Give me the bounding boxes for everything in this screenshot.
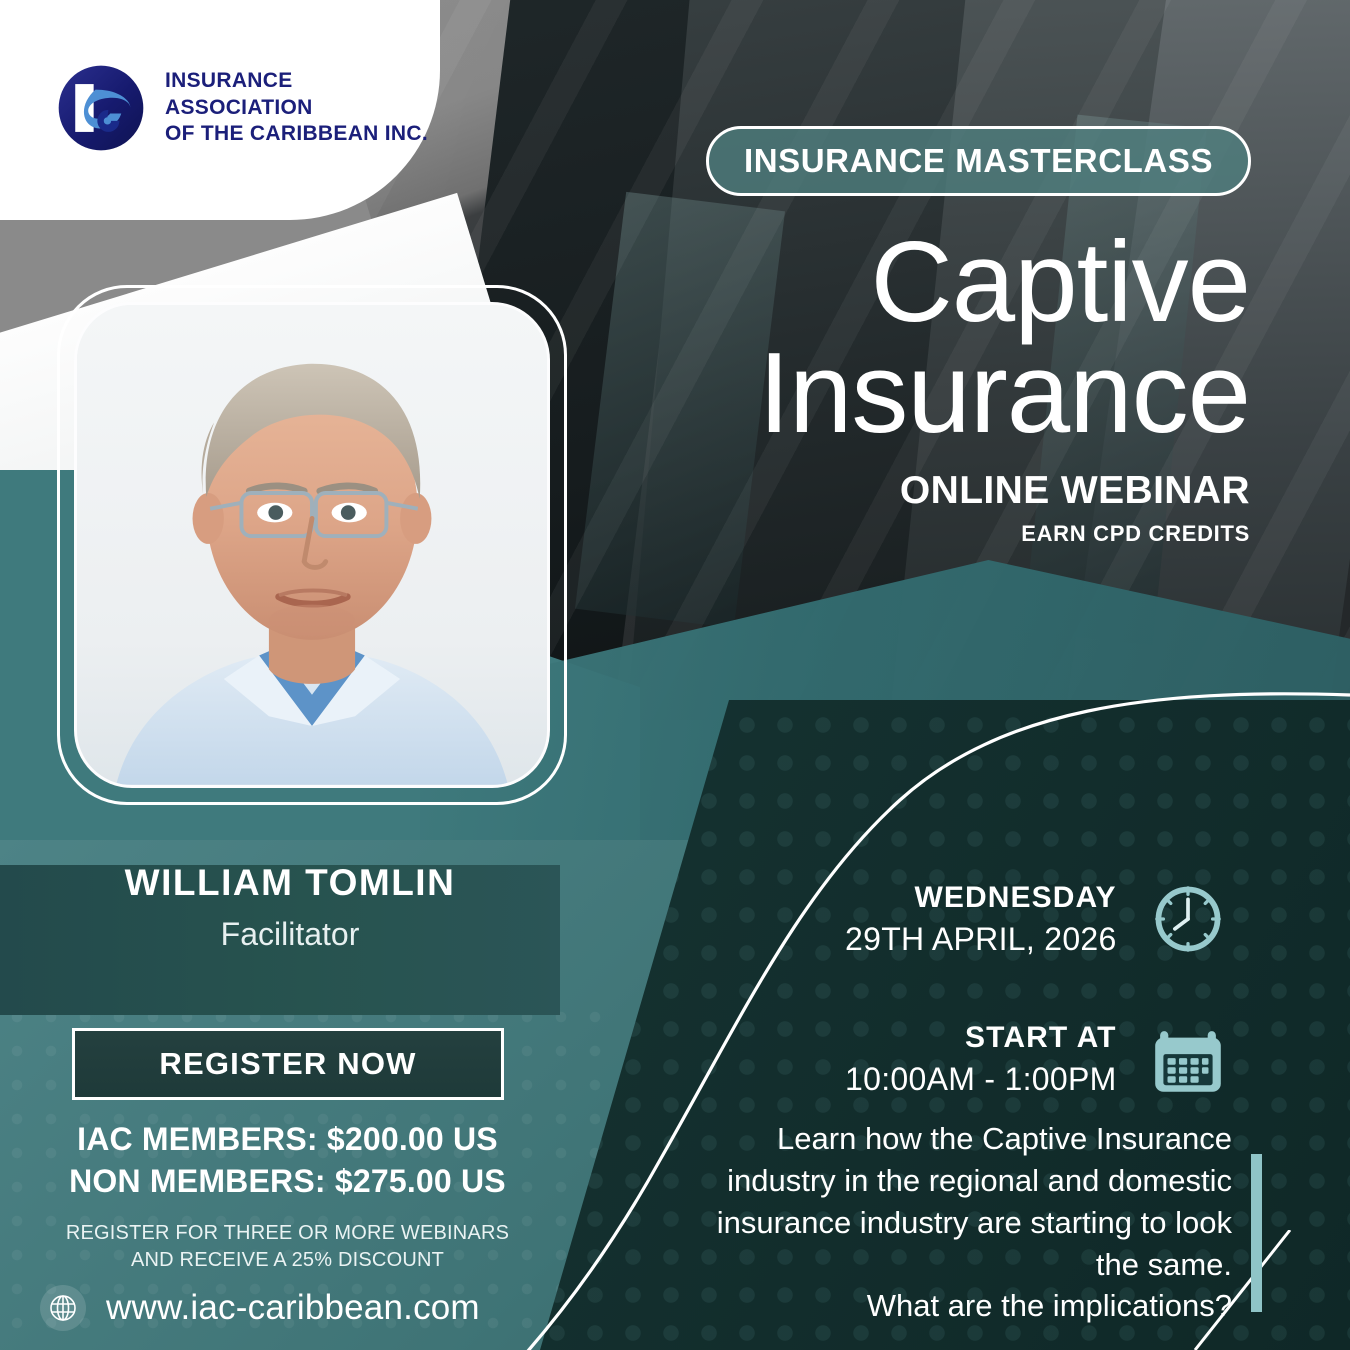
event-date-value: 29TH APRIL, 2026 — [845, 921, 1117, 958]
price-non-member: NON MEMBERS: $275.00 US — [0, 1160, 575, 1202]
brand-logo: INSURANCE ASSOCIATION OF THE CARIBBEAN I… — [55, 62, 428, 154]
price-member: IAC MEMBERS: $200.00 US — [0, 1118, 575, 1160]
org-line-3: OF THE CARIBBEAN INC. — [165, 121, 428, 148]
event-time-block: START AT 10:00AM - 1:00PM — [845, 1018, 1229, 1100]
org-line-2: ASSOCIATION — [165, 95, 428, 122]
event-time-text: START AT 10:00AM - 1:00PM — [845, 1021, 1117, 1098]
event-date-label: WEDNESDAY — [845, 881, 1117, 915]
speaker-portrait-inner-frame — [74, 302, 550, 788]
hero-title-line-2: Insurance — [590, 339, 1250, 450]
website-url: www.iac-caribbean.com — [106, 1288, 480, 1328]
speaker-name: WILLIAM TOMLIN — [0, 862, 580, 904]
event-time-label: START AT — [845, 1021, 1117, 1055]
event-date-block: WEDNESDAY 29TH APRIL, 2026 — [845, 878, 1229, 960]
clock-icon — [1147, 878, 1229, 960]
org-line-1: INSURANCE — [165, 68, 428, 95]
register-now-label: REGISTER NOW — [159, 1046, 416, 1082]
description-accent-bar — [1251, 1154, 1262, 1312]
discount-note: REGISTER FOR THREE OR MORE WEBINARS AND … — [0, 1220, 575, 1274]
hero-cpd-credits: EARN CPD CREDITS — [590, 521, 1250, 547]
register-now-button[interactable]: REGISTER NOW — [72, 1028, 504, 1100]
description-line-3: insurance industry are starting to look — [632, 1202, 1232, 1244]
hero-subtitle: ONLINE WEBINAR — [590, 469, 1250, 513]
masterclass-badge-label: INSURANCE MASTERCLASS — [744, 142, 1213, 180]
speaker-info: WILLIAM TOMLIN Facilitator — [0, 862, 580, 953]
description-line-1: Learn how the Captive Insurance — [632, 1118, 1232, 1160]
globe-icon — [40, 1285, 86, 1331]
speaker-role: Facilitator — [0, 916, 580, 953]
speaker-avatar — [77, 305, 547, 785]
hero-title-line-1: Captive — [590, 228, 1250, 339]
hero-title-block: Captive Insurance ONLINE WEBINAR EARN CP… — [590, 228, 1250, 547]
calendar-icon — [1147, 1018, 1229, 1100]
webinar-poster: INSURANCE ASSOCIATION OF THE CARIBBEAN I… — [0, 0, 1350, 1350]
description-line-2: industry in the regional and domestic — [632, 1160, 1232, 1202]
event-time-value: 10:00AM - 1:00PM — [845, 1061, 1117, 1098]
event-date-text: WEDNESDAY 29TH APRIL, 2026 — [845, 881, 1117, 958]
discount-line-1: REGISTER FOR THREE OR MORE WEBINARS — [0, 1220, 575, 1247]
description-line-4: the same. — [632, 1244, 1232, 1286]
masterclass-badge: INSURANCE MASTERCLASS — [706, 126, 1251, 196]
website-link[interactable]: www.iac-caribbean.com — [40, 1285, 480, 1331]
discount-line-2: AND RECEIVE A 25% DISCOUNT — [0, 1247, 575, 1274]
description-line-5: What are the implications? — [632, 1285, 1232, 1327]
brand-org-name: INSURANCE ASSOCIATION OF THE CARIBBEAN I… — [165, 68, 428, 149]
speaker-portrait-frame — [57, 285, 567, 805]
pricing-block: IAC MEMBERS: $200.00 US NON MEMBERS: $27… — [0, 1118, 575, 1274]
event-description: Learn how the Captive Insurance industry… — [632, 1118, 1232, 1327]
iac-circle-logo-icon — [55, 62, 147, 154]
